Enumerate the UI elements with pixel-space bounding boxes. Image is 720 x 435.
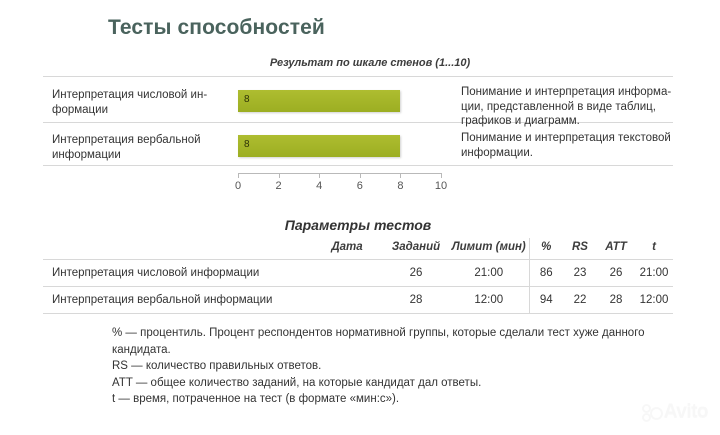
axis-tick [238, 173, 239, 178]
bar-chart-plot-area: 8 8 [238, 76, 441, 188]
axis-tick-label: 0 [235, 180, 241, 192]
table-cell-date [311, 260, 383, 287]
table-header-rs: RS [563, 238, 597, 260]
table-cell-limit: 21:00 [449, 260, 529, 287]
table-header-t: t [635, 238, 673, 260]
chart-row-description: Понимание и интерпретация текстовой инфо… [461, 131, 683, 160]
table-header-percent: % [529, 238, 563, 260]
table-cell-limit: 12:00 [449, 287, 529, 314]
legend-note: % — процентиль. Процент респондентов нор… [112, 325, 652, 358]
axis-tick [319, 173, 320, 178]
table-cell-att: 26 [597, 260, 635, 287]
table-header-att: ATT [597, 238, 635, 260]
axis-tick [441, 173, 442, 178]
bar: 8 [238, 90, 400, 112]
table-header-date: Дата [311, 238, 383, 260]
table-row: Интерпретация вербальной информации 28 1… [43, 287, 673, 314]
axis-tick [400, 173, 401, 178]
table-cell-rs: 23 [563, 260, 597, 287]
table-cell-tasks: 26 [383, 260, 449, 287]
table-cell-name: Интерпретация вербальной информации [43, 287, 311, 314]
legend-note: t — время, потраченное на тест (в формат… [112, 391, 652, 408]
legend-notes: % — процентиль. Процент респондентов нор… [112, 325, 652, 408]
table-header-name [43, 238, 311, 260]
legend-note: RS — количество правильных ответов. [112, 358, 652, 375]
table-header-tasks: Заданий [383, 238, 449, 260]
axis-tick [279, 173, 280, 178]
axis-tick-label: 4 [316, 180, 322, 192]
table-cell-tasks: 28 [383, 287, 449, 314]
axis-tick [360, 173, 361, 178]
table-title: Параметры тестов [43, 217, 673, 233]
chart-row-description: Понимание и интерпретация информа-ции, п… [461, 85, 683, 129]
axis-tick-label: 6 [357, 180, 363, 192]
table-header-row: Дата Заданий Лимит (мин) % RS ATT t [43, 238, 673, 260]
table-cell-t: 21:00 [635, 260, 673, 287]
axis-tick-label: 10 [435, 180, 447, 192]
bar: 8 [238, 135, 400, 157]
test-parameters-table: Дата Заданий Лимит (мин) % RS ATT t Инте… [43, 238, 673, 314]
table-cell-percent: 94 [529, 287, 563, 314]
report-page: Тесты способностей Результат по шкале ст… [0, 0, 720, 435]
table-header-limit: Лимит (мин) [449, 238, 529, 260]
chart-category-label: Интерпретация вербальной информации [52, 133, 232, 163]
table-cell-rs: 22 [563, 287, 597, 314]
watermark-label: Avito [664, 401, 708, 423]
axis-tick-label: 8 [397, 180, 403, 192]
table-cell-date [311, 287, 383, 314]
chart-category-label: Интерпретация числовой ин-формации [52, 88, 232, 118]
table-row: Интерпретация числовой информации 26 21:… [43, 260, 673, 287]
table-cell-percent: 86 [529, 260, 563, 287]
axis-tick-label: 2 [276, 180, 282, 192]
table-cell-t: 12:00 [635, 287, 673, 314]
table-cell-name: Интерпретация числовой информации [43, 260, 311, 287]
legend-note: ATT — общее количество заданий, на котор… [112, 375, 652, 392]
chart-subtitle: Результат по шкале стенов (1...10) [240, 57, 500, 69]
bar-value-label: 8 [244, 94, 250, 105]
table-cell-att: 28 [597, 287, 635, 314]
page-title: Тесты способностей [108, 16, 325, 40]
chart-x-axis [238, 173, 441, 180]
bar-value-label: 8 [244, 139, 250, 150]
